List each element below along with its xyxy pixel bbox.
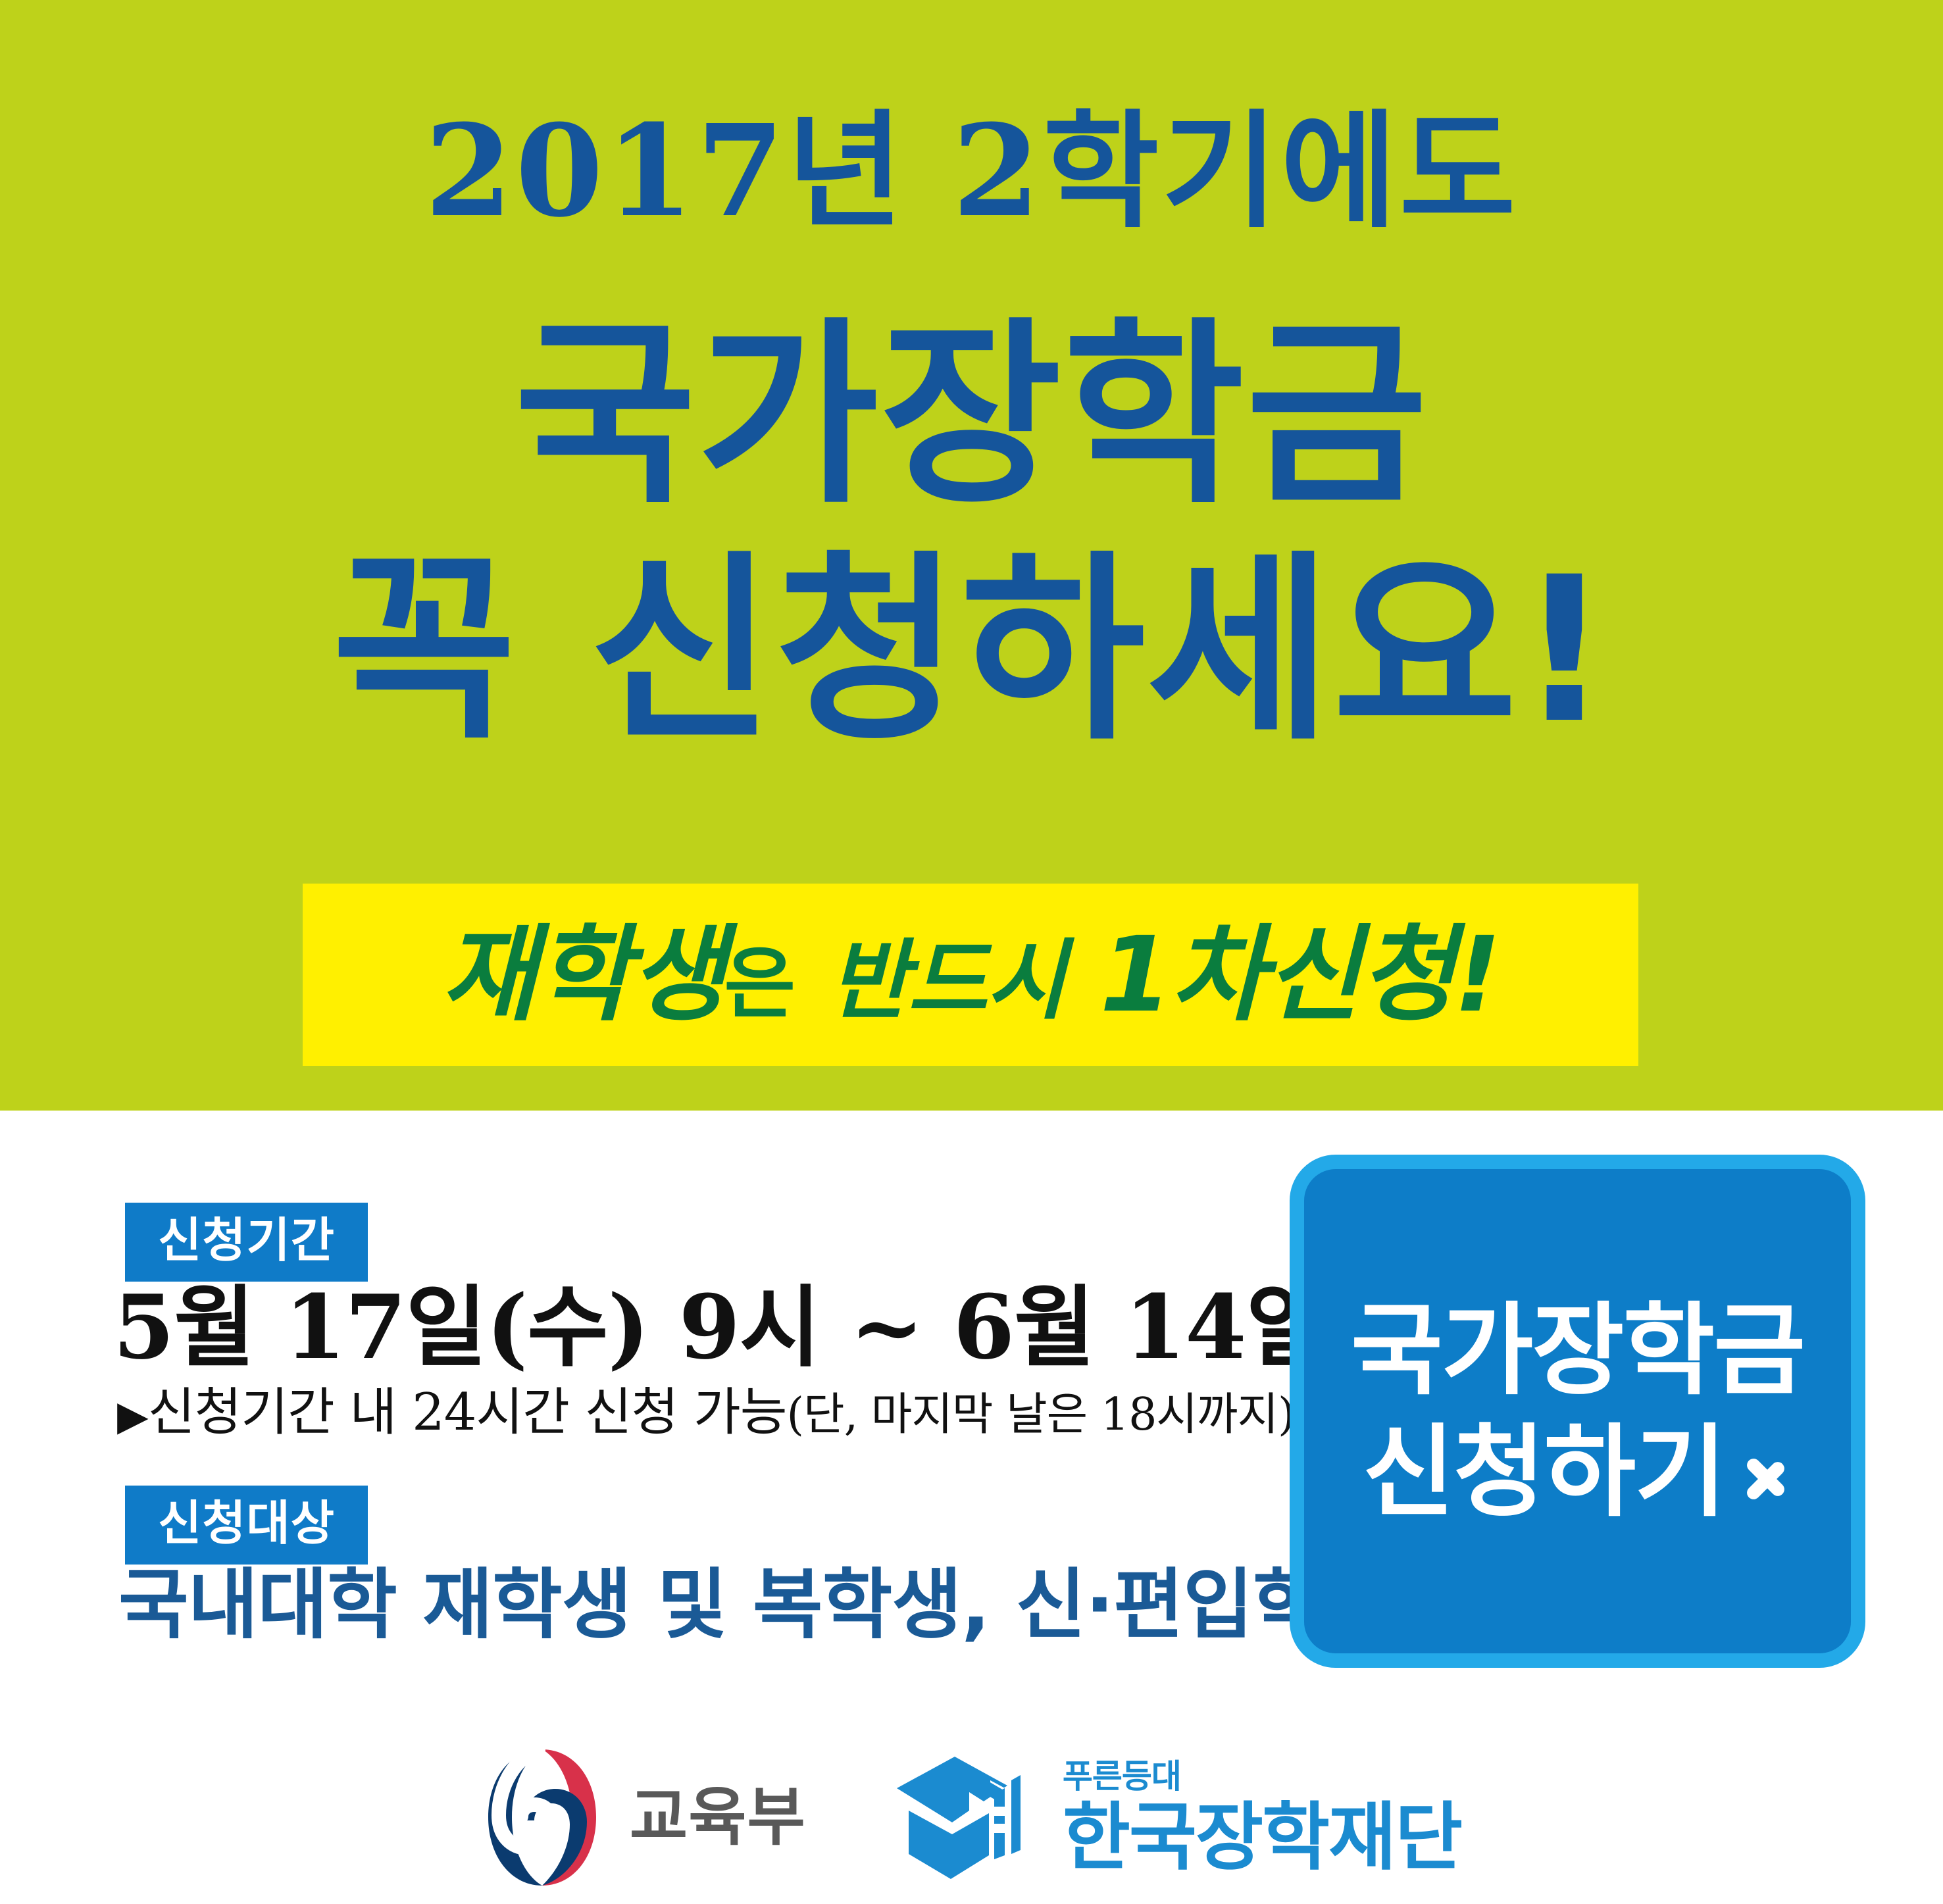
hero-section: 2017년 2학기에도 국가장학금 꼭 신청하세요! 재학생은 반드시 1차신청…	[0, 0, 1943, 1111]
highlight-text: 재학생은 반드시 1차신청!	[441, 923, 1500, 1027]
highlight-part-2: 은	[724, 938, 795, 1029]
cta-line-2-row: 신청하기	[1363, 1411, 1792, 1533]
highlight-part-3: 반드시	[829, 930, 1065, 1032]
chevron-right-icon	[1742, 1433, 1792, 1512]
status-badge-application-period: 신청기간	[125, 1203, 368, 1282]
hero-headline: 국가장학금 꼭 신청하세요!	[0, 299, 1943, 769]
bullet-arrow-icon: ▶	[117, 1391, 148, 1440]
status-badge-application-target: 신청대상	[125, 1486, 368, 1565]
highlight-band: 재학생은 반드시 1차신청!	[303, 884, 1638, 1066]
highlight-part-4: 1차신청!	[1099, 914, 1500, 1036]
kosaf-wordmark: 푸른등대 한국장학재단	[1063, 1760, 1461, 1874]
headline-line-2: 꼭 신청하세요!	[0, 532, 1943, 769]
application-period-note: ▶신청기간 내 24시간 신청 가능(단, 마지막 날은 18시까지)	[117, 1387, 1295, 1438]
headline-line-1: 국가장학금	[515, 301, 1429, 530]
apply-scholarship-button[interactable]: 국가장학금 신청하기	[1290, 1155, 1865, 1668]
application-target-value: 국내대학 재학생 및 복학생, 신·편입학생	[118, 1567, 1392, 1643]
korea-government-taegeuk-icon	[482, 1747, 603, 1888]
highlight-part-1: 재학생	[441, 914, 724, 1036]
graduation-cap-icon	[892, 1750, 1043, 1885]
note-paren-text: (단, 마지막 날은 18시까지)	[786, 1389, 1294, 1441]
kosaf-name: 한국장학재단	[1063, 1801, 1461, 1874]
footer-logos: 교육부 푸른등대 한국장학재단	[0, 1730, 1943, 1904]
cta-line-1: 국가장학금	[1351, 1290, 1804, 1411]
note-main-text: 신청기간 내 24시간 신청 가능	[148, 1383, 787, 1442]
cta-line-2: 신청하기	[1363, 1411, 1725, 1533]
ministry-of-education-logo: 교육부	[482, 1747, 806, 1888]
kosaf-sub-name: 푸른등대	[1063, 1760, 1461, 1793]
ministry-of-education-name: 교육부	[630, 1786, 806, 1849]
scholarship-banner: 2017년 2학기에도 국가장학금 꼭 신청하세요! 재학생은 반드시 1차신청…	[0, 0, 1943, 1904]
kosaf-logo: 푸른등대 한국장학재단	[892, 1750, 1461, 1885]
hero-eyebrow: 2017년 2학기에도	[0, 109, 1943, 235]
